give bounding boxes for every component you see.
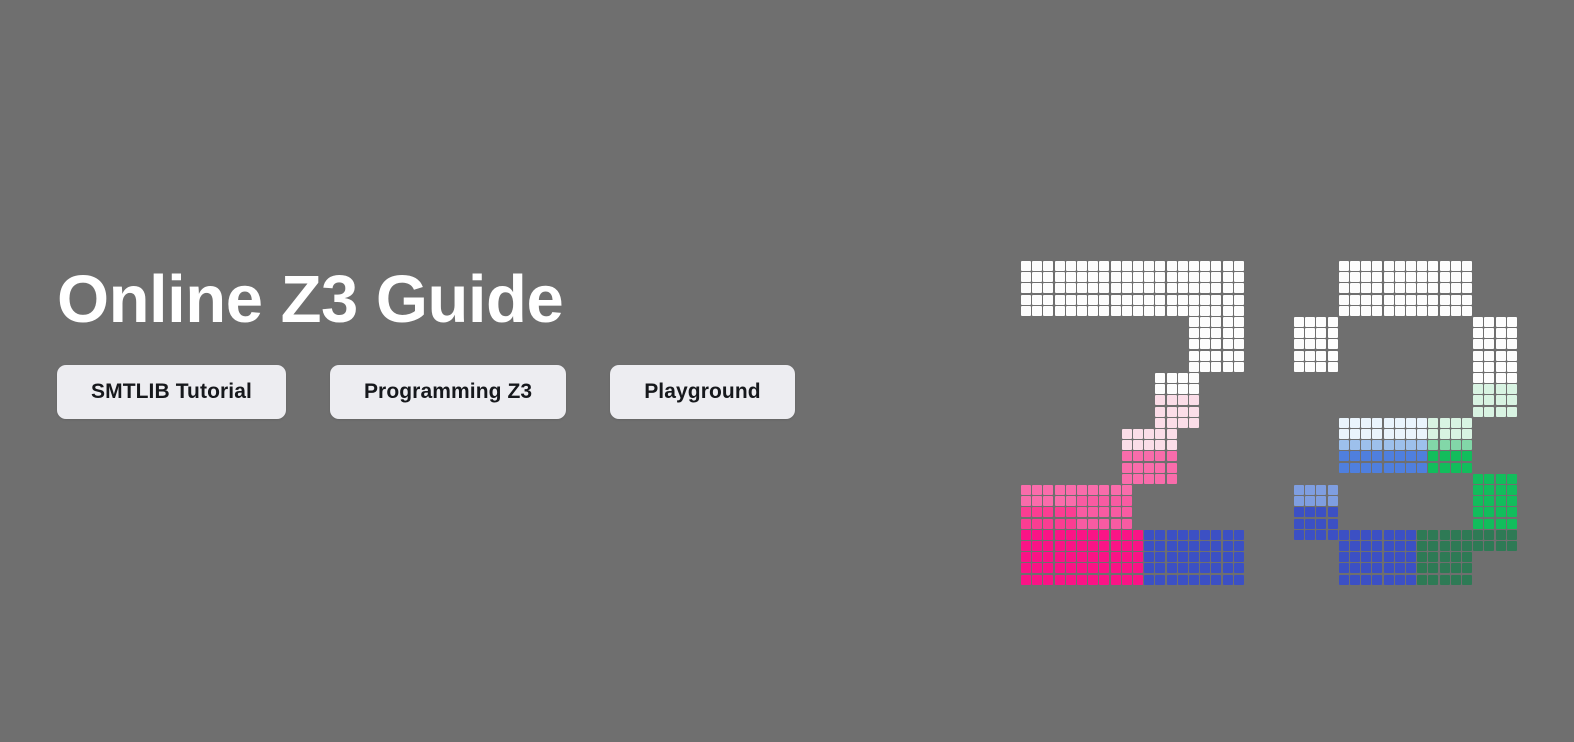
logo-cell [1223,317,1233,327]
logo-cell [1111,507,1121,517]
logo-cell [1328,351,1338,361]
logo-cell [1294,530,1304,540]
logo-cell [1021,261,1031,271]
z3-pixel-logo [1021,261,1521,581]
logo-cell [1484,339,1494,349]
logo-cell [1077,541,1087,551]
logo-cell [1055,530,1065,540]
logo-cell [1077,530,1087,540]
logo-cell [1211,575,1221,585]
logo-cell [1077,552,1087,562]
logo-cell [1507,530,1517,540]
logo-cell [1305,328,1315,338]
logo-cell [1350,306,1360,316]
logo-cell [1294,362,1304,372]
logo-cell [1406,530,1416,540]
logo-cell [1144,474,1154,484]
logo-cell [1305,519,1315,529]
logo-cell [1462,552,1472,562]
logo-cell [1055,519,1065,529]
logo-cell [1200,575,1210,585]
logo-cell [1043,306,1053,316]
logo-cell [1395,429,1405,439]
logo-cell [1305,351,1315,361]
logo-cell [1155,373,1165,383]
logo-cell [1211,261,1221,271]
logo-cell [1428,295,1438,305]
logo-cell [1294,496,1304,506]
logo-cell [1077,485,1087,495]
logo-cell [1234,575,1244,585]
logo-cell [1406,429,1416,439]
logo-cell [1417,429,1427,439]
logo-cell [1496,317,1506,327]
logo-cell [1088,552,1098,562]
logo-cell [1473,395,1483,405]
logo-cell [1361,283,1371,293]
logo-cell [1133,295,1143,305]
logo-cell [1223,306,1233,316]
logo-cell [1451,541,1461,551]
logo-cell [1043,541,1053,551]
logo-cell [1316,485,1326,495]
logo-cell [1372,418,1382,428]
logo-cell [1234,530,1244,540]
logo-cell [1111,485,1121,495]
logo-cell [1043,575,1053,585]
logo-cell [1122,485,1132,495]
logo-cell [1055,295,1065,305]
logo-cell [1328,507,1338,517]
logo-cell [1462,306,1472,316]
logo-cell [1099,563,1109,573]
logo-cell [1507,339,1517,349]
logo-cell [1144,272,1154,282]
logo-cell [1155,272,1165,282]
logo-cell [1189,339,1199,349]
logo-cell [1496,395,1506,405]
logo-cell [1294,328,1304,338]
logo-cell [1507,485,1517,495]
logo-cell [1155,384,1165,394]
logo-cell [1223,283,1233,293]
logo-cell [1339,530,1349,540]
logo-cell [1417,440,1427,450]
logo-cell [1484,373,1494,383]
logo-cell [1200,541,1210,551]
logo-cell [1234,362,1244,372]
logo-cell [1507,519,1517,529]
logo-cell [1189,272,1199,282]
logo-cell [1111,295,1121,305]
logo-cell [1234,563,1244,573]
logo-cell [1451,283,1461,293]
logo-cell [1451,575,1461,585]
logo-cell [1428,261,1438,271]
logo-cell [1417,463,1427,473]
logo-cell [1021,306,1031,316]
logo-cell [1155,552,1165,562]
logo-cell [1155,306,1165,316]
logo-cell [1077,496,1087,506]
logo-cell [1167,541,1177,551]
logo-cell [1406,295,1416,305]
logo-cell [1144,261,1154,271]
logo-cell [1316,328,1326,338]
logo-cell [1395,575,1405,585]
logo-cell [1066,519,1076,529]
logo-cell [1144,463,1154,473]
logo-cell [1507,328,1517,338]
logo-cell [1406,418,1416,428]
logo-cell [1484,362,1494,372]
logo-cell [1167,283,1177,293]
logo-cell [1328,328,1338,338]
logo-cell [1316,519,1326,529]
logo-cell [1055,261,1065,271]
logo-cell [1077,295,1087,305]
logo-cell [1122,563,1132,573]
logo-cell [1372,440,1382,450]
logo-cell [1189,541,1199,551]
logo-cell [1339,541,1349,551]
logo-cell [1440,272,1450,282]
logo-cell [1328,496,1338,506]
logo-cell [1088,530,1098,540]
logo-cell [1211,351,1221,361]
logo-cell [1350,530,1360,540]
logo-cell [1428,429,1438,439]
logo-cell [1395,552,1405,562]
logo-cell [1144,429,1154,439]
logo-cell [1234,351,1244,361]
logo-cell [1144,283,1154,293]
logo-cell [1167,575,1177,585]
logo-cell [1507,384,1517,394]
logo-cell [1167,463,1177,473]
logo-cell [1133,440,1143,450]
logo-cell [1099,295,1109,305]
logo-cell [1211,552,1221,562]
logo-cell [1361,552,1371,562]
logo-cell [1372,283,1382,293]
logo-cell [1088,575,1098,585]
logo-cell [1406,552,1416,562]
logo-cell [1189,575,1199,585]
logo-cell [1043,283,1053,293]
logo-cell [1155,295,1165,305]
logo-cell [1122,429,1132,439]
logo-cell [1496,496,1506,506]
logo-cell [1223,272,1233,282]
logo-cell [1077,507,1087,517]
logo-cell [1189,418,1199,428]
logo-cell [1316,530,1326,540]
logo-cell [1077,519,1087,529]
logo-cell [1372,429,1382,439]
logo-cell [1395,451,1405,461]
logo-cell [1144,295,1154,305]
logo-cell [1384,563,1394,573]
logo-cell [1417,541,1427,551]
logo-cell [1111,575,1121,585]
logo-cell [1234,541,1244,551]
logo-cell [1088,519,1098,529]
logo-cell [1384,283,1394,293]
logo-cell [1211,306,1221,316]
logo-cell [1496,530,1506,540]
logo-cell [1032,507,1042,517]
logo-cell [1211,530,1221,540]
logo-cell [1384,295,1394,305]
logo-cell [1395,530,1405,540]
logo-cell [1484,407,1494,417]
logo-cell [1211,272,1221,282]
logo-cell [1328,362,1338,372]
logo-cell [1384,418,1394,428]
logo-cell [1507,317,1517,327]
logo-cell [1223,295,1233,305]
logo-cell [1339,429,1349,439]
logo-cell [1484,395,1494,405]
logo-cell [1395,463,1405,473]
logo-cell [1189,395,1199,405]
logo-cell [1133,530,1143,540]
logo-cell [1144,306,1154,316]
logo-cell [1088,507,1098,517]
logo-cell [1043,530,1053,540]
logo-cell [1328,530,1338,540]
logo-cell [1473,474,1483,484]
logo-cell [1350,563,1360,573]
logo-cell [1406,451,1416,461]
logo-cell [1350,575,1360,585]
logo-cell [1294,485,1304,495]
logo-cell [1361,440,1371,450]
logo-cell [1223,328,1233,338]
logo-cell [1200,362,1210,372]
logo-cell [1066,563,1076,573]
logo-cell [1178,407,1188,417]
logo-cell [1200,328,1210,338]
logo-cell [1484,530,1494,540]
logo-cell [1133,541,1143,551]
logo-cell [1077,306,1087,316]
logo-cell [1417,306,1427,316]
logo-cell [1167,373,1177,383]
logo-cell [1122,507,1132,517]
logo-cell [1055,485,1065,495]
logo-cell [1223,339,1233,349]
logo-cell [1473,485,1483,495]
logo-cell [1189,306,1199,316]
logo-cell [1234,552,1244,562]
logo-cell [1361,463,1371,473]
logo-cell [1032,283,1042,293]
logo-cell [1361,295,1371,305]
logo-cell [1200,283,1210,293]
logo-cell [1507,507,1517,517]
logo-cell [1496,519,1506,529]
logo-cell [1122,272,1132,282]
logo-cell [1428,563,1438,573]
logo-cell [1077,272,1087,282]
logo-cell [1223,351,1233,361]
logo-cell [1133,261,1143,271]
logo-cell [1406,283,1416,293]
logo-cell [1077,575,1087,585]
logo-cell [1155,541,1165,551]
logo-cell [1372,306,1382,316]
cta-button-row: SMTLIB Tutorial Programming Z3 Playgroun… [57,365,957,419]
logo-cell [1122,519,1132,529]
logo-cell [1339,272,1349,282]
logo-cell [1167,451,1177,461]
page-title: Online Z3 Guide [57,258,957,342]
logo-cell [1155,463,1165,473]
logo-cell [1133,575,1143,585]
logo-cell [1350,541,1360,551]
logo-cell [1211,317,1221,327]
logo-cell [1066,507,1076,517]
logo-cell [1339,440,1349,450]
logo-cell [1395,418,1405,428]
logo-cell [1223,261,1233,271]
logo-cell [1111,261,1121,271]
logo-cell [1178,295,1188,305]
logo-cell [1451,272,1461,282]
logo-cell [1507,407,1517,417]
logo-cell [1122,474,1132,484]
logo-cell [1043,496,1053,506]
logo-cell [1361,418,1371,428]
logo-cell [1484,384,1494,394]
logo-cell [1189,407,1199,417]
logo-cell [1462,283,1472,293]
logo-cell [1043,261,1053,271]
logo-cell [1361,272,1371,282]
logo-cell [1395,261,1405,271]
logo-cell [1088,485,1098,495]
logo-cell [1384,552,1394,562]
logo-cell [1294,339,1304,349]
logo-cell [1032,272,1042,282]
logo-cell [1021,272,1031,282]
programming-z3-button[interactable]: Programming Z3 [330,365,566,419]
logo-cell [1462,563,1472,573]
logo-cell [1484,519,1494,529]
logo-cell [1395,306,1405,316]
logo-cell [1200,563,1210,573]
logo-cell [1122,440,1132,450]
logo-cell [1032,261,1042,271]
logo-cell [1167,384,1177,394]
logo-cell [1484,328,1494,338]
logo-cell [1372,451,1382,461]
playground-button[interactable]: Playground [610,365,795,419]
logo-cell [1473,362,1483,372]
logo-cell [1178,530,1188,540]
logo-cell [1316,339,1326,349]
logo-cell [1178,306,1188,316]
logo-cell [1294,317,1304,327]
logo-cell [1144,575,1154,585]
logo-cell [1200,295,1210,305]
logo-cell [1395,563,1405,573]
logo-cell [1032,519,1042,529]
logo-cell [1021,283,1031,293]
logo-cell [1417,295,1427,305]
logo-cell [1189,373,1199,383]
logo-cell [1155,440,1165,450]
logo-cell [1496,362,1506,372]
logo-cell [1155,418,1165,428]
logo-cell [1462,530,1472,540]
logo-cell [1428,418,1438,428]
logo-cell [1088,295,1098,305]
logo-cell [1032,563,1042,573]
logo-cell [1316,496,1326,506]
logo-cell [1167,295,1177,305]
logo-cell [1032,295,1042,305]
logo-cell [1395,541,1405,551]
logo-cell [1178,283,1188,293]
logo-cell [1428,272,1438,282]
logo-cell [1111,563,1121,573]
logo-cell [1066,261,1076,271]
logo-cell [1316,351,1326,361]
logo-cell [1372,295,1382,305]
logo-cell [1200,317,1210,327]
logo-cell [1417,563,1427,573]
logo-cell [1384,429,1394,439]
logo-cell [1155,563,1165,573]
logo-cell [1440,530,1450,540]
logo-cell [1167,474,1177,484]
logo-cell [1234,272,1244,282]
logo-cell [1032,485,1042,495]
logo-cell [1155,407,1165,417]
smtlib-tutorial-button[interactable]: SMTLIB Tutorial [57,365,286,419]
logo-cell [1372,272,1382,282]
logo-cell [1189,362,1199,372]
logo-cell [1211,362,1221,372]
logo-cell [1055,552,1065,562]
logo-cell [1189,384,1199,394]
logo-cell [1417,451,1427,461]
logo-cell [1350,429,1360,439]
logo-cell [1167,306,1177,316]
logo-cell [1406,563,1416,573]
logo-cell [1395,272,1405,282]
logo-cell [1223,362,1233,372]
logo-cell [1167,407,1177,417]
logo-cell [1328,519,1338,529]
logo-cell [1088,563,1098,573]
logo-cell [1122,463,1132,473]
logo-cell [1507,362,1517,372]
logo-cell [1099,575,1109,585]
logo-cell [1440,575,1450,585]
logo-cell [1133,463,1143,473]
logo-cell [1473,530,1483,540]
logo-cell [1428,575,1438,585]
logo-cell [1144,440,1154,450]
logo-cell [1507,474,1517,484]
logo-cell [1473,351,1483,361]
logo-cell [1099,496,1109,506]
logo-cell [1178,552,1188,562]
